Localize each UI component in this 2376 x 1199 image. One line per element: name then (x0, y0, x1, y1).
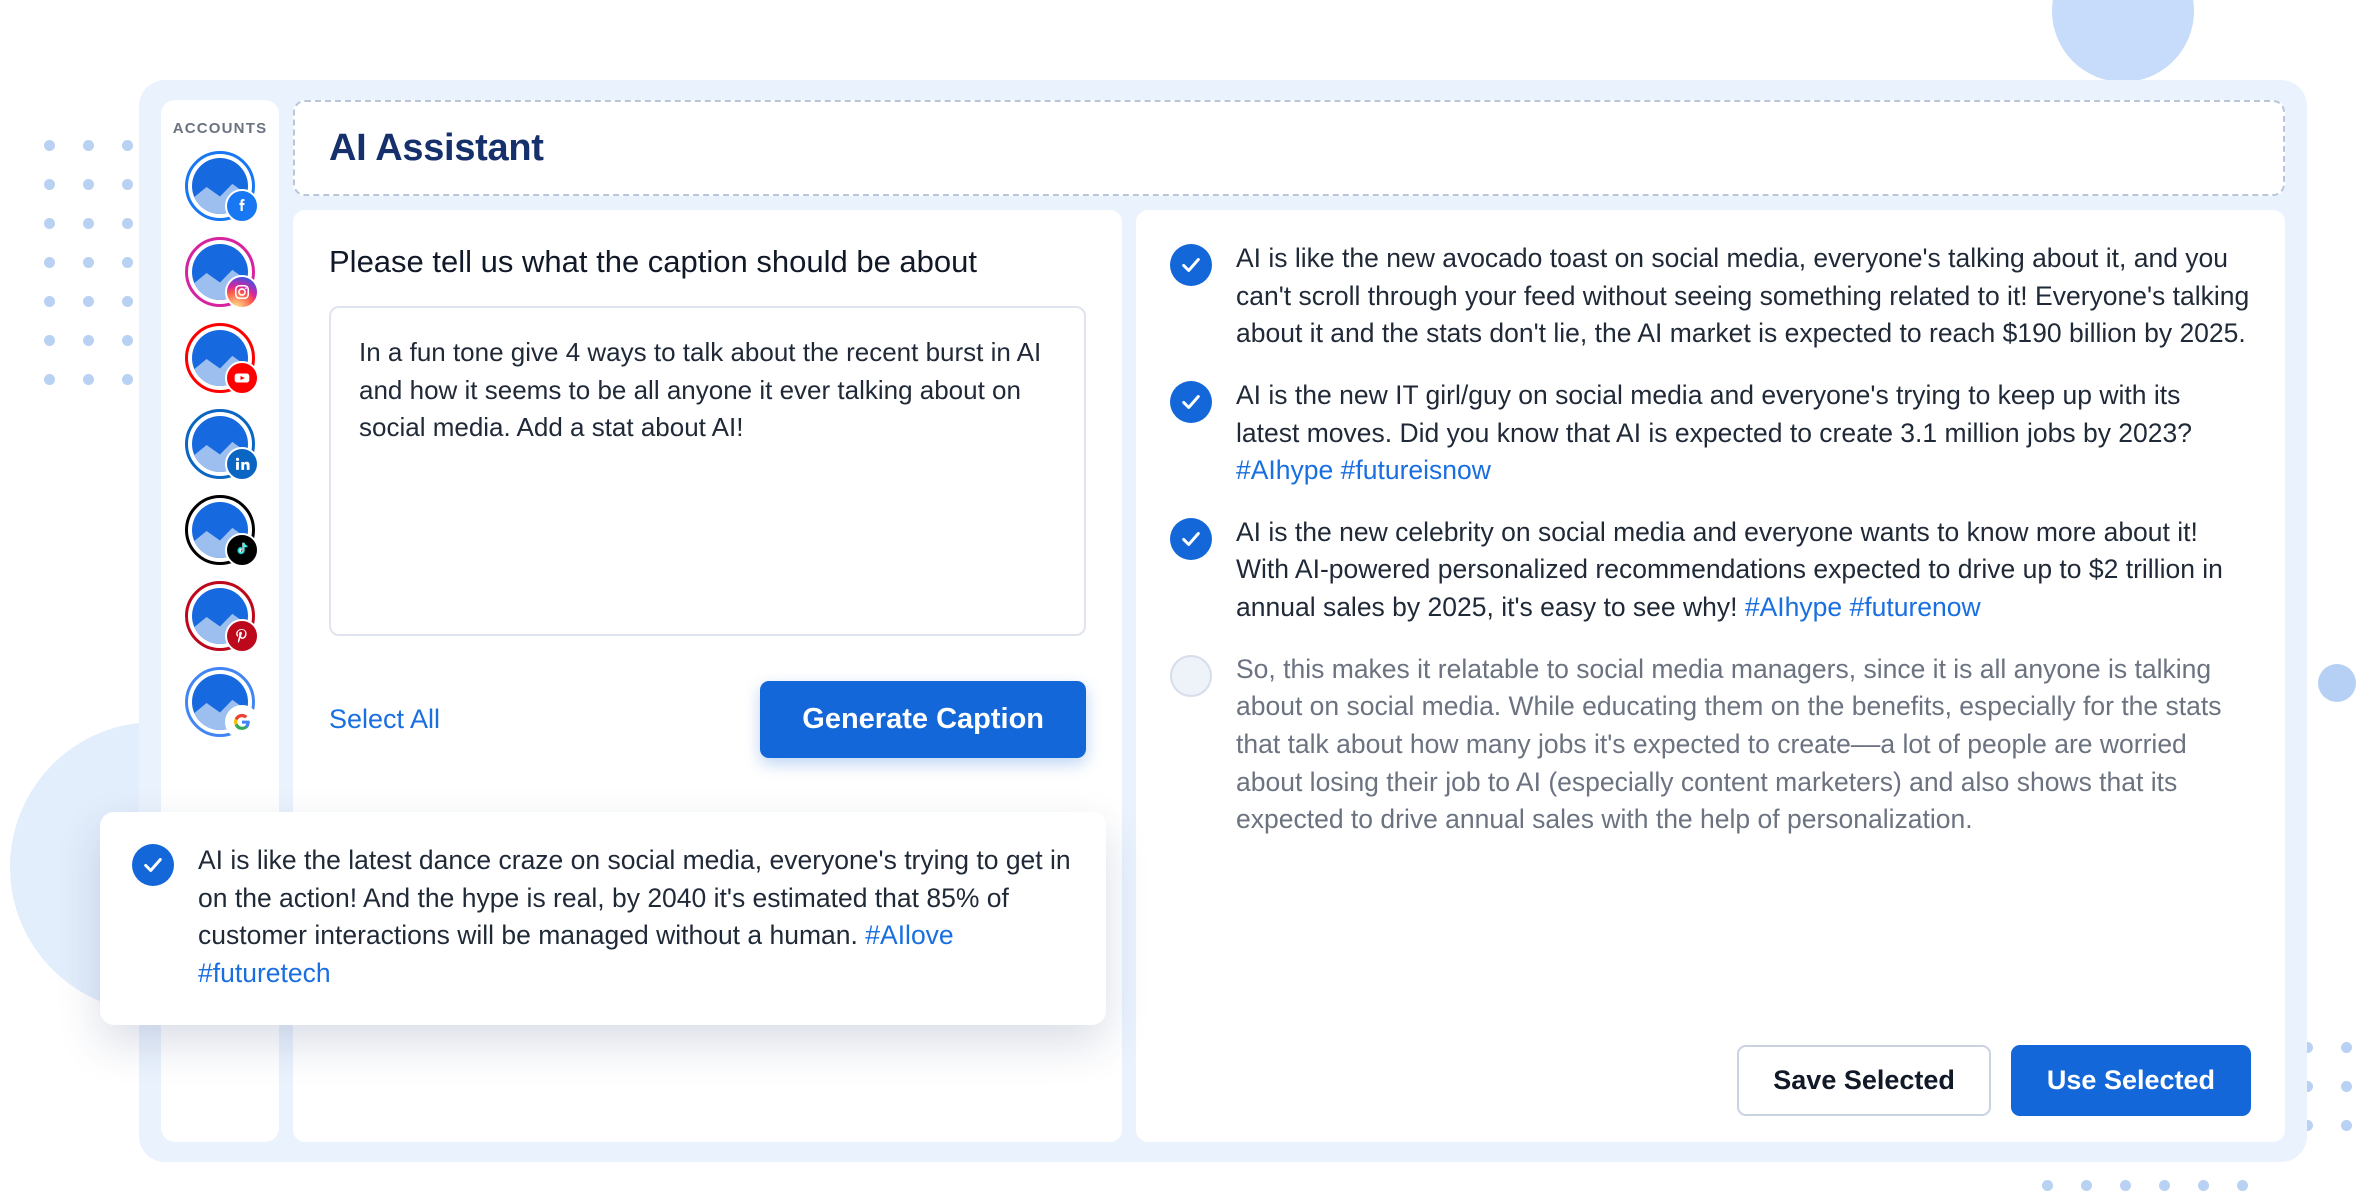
decorative-dot (122, 140, 133, 151)
account-item-linkedin[interactable] (185, 409, 255, 479)
suggestion-text: AI is the new IT girl/guy on social medi… (1236, 377, 2251, 490)
decorative-dot (44, 179, 55, 190)
accounts-sidebar-title: ACCOUNTS (161, 120, 279, 137)
generate-caption-button[interactable]: Generate Caption (760, 681, 1086, 758)
decorative-dot (44, 296, 55, 307)
suggestion-checkbox[interactable] (132, 844, 174, 886)
suggestion-checkbox-unchecked[interactable] (1170, 655, 1212, 697)
suggestion-text: So, this makes it relatable to social me… (1236, 651, 2251, 839)
decorative-dot-grid-right (2302, 1042, 2352, 1131)
decorative-dot (83, 179, 94, 190)
decorative-dot (83, 374, 94, 385)
decorative-dot (2081, 1180, 2092, 1191)
decorative-dot (122, 179, 133, 190)
suggestion-checkbox-checked[interactable] (1170, 381, 1212, 423)
decorative-circle-top (2052, 0, 2194, 82)
prompt-heading: Please tell us what the caption should b… (329, 244, 1086, 280)
account-item-youtube[interactable] (185, 323, 255, 393)
suggestion-text: AI is the new celebrity on social media … (1236, 514, 2251, 627)
account-item-facebook[interactable] (185, 151, 255, 221)
decorative-dot (122, 218, 133, 229)
youtube-icon (225, 361, 259, 395)
decorative-dot (122, 335, 133, 346)
decorative-dot (2237, 1180, 2248, 1191)
facebook-icon (225, 189, 259, 223)
suggestion-text: AI is like the new avocado toast on soci… (1236, 240, 2251, 353)
account-item-pinterest[interactable] (185, 581, 255, 651)
suggestion-item[interactable]: AI is the new IT girl/guy on social medi… (1170, 377, 2251, 490)
save-selected-button[interactable]: Save Selected (1737, 1045, 1991, 1116)
decorative-dot (83, 140, 94, 151)
decorative-dot (83, 335, 94, 346)
instagram-icon (225, 275, 259, 309)
decorative-dot (83, 257, 94, 268)
decorative-dot (2042, 1180, 2053, 1191)
decorative-dot-grid-bottom (2042, 1180, 2248, 1191)
suggestions-list: AI is like the new avocado toast on soci… (1170, 240, 2251, 1021)
linkedin-icon (225, 447, 259, 481)
hashtag-link[interactable]: #futurenow (1850, 592, 1981, 622)
google-icon (225, 705, 259, 739)
hashtag-link[interactable]: #futuretech (198, 958, 331, 988)
decorative-dot (83, 296, 94, 307)
prompt-input[interactable] (329, 306, 1086, 636)
page-title: AI Assistant (329, 127, 544, 170)
decorative-dot (122, 374, 133, 385)
decorative-dot (2120, 1180, 2131, 1191)
decorative-dot (2198, 1180, 2209, 1191)
decorative-dot (2341, 1120, 2352, 1131)
account-item-instagram[interactable] (185, 237, 255, 307)
suggestions-actions: Save Selected Use Selected (1170, 1045, 2251, 1116)
hashtag-link[interactable]: #AIhype (1236, 455, 1333, 485)
suggestion-checkbox-checked[interactable] (1170, 518, 1212, 560)
suggestion-text: AI is like the latest dance craze on soc… (198, 842, 1072, 993)
use-selected-button[interactable]: Use Selected (2011, 1045, 2251, 1116)
suggestions-panel: AI is like the new avocado toast on soci… (1136, 210, 2285, 1142)
decorative-dot (44, 257, 55, 268)
decorative-dot (122, 257, 133, 268)
decorative-dot (122, 296, 133, 307)
decorative-dot-right (2318, 664, 2356, 702)
decorative-dot (44, 374, 55, 385)
suggestion-item[interactable]: So, this makes it relatable to social me… (1170, 651, 2251, 839)
account-item-tiktok[interactable] (185, 495, 255, 565)
accounts-list (161, 151, 279, 737)
hashtag-link[interactable]: #AIhype (1745, 592, 1842, 622)
hashtag-link[interactable]: #futureisnow (1341, 455, 1491, 485)
account-item-google[interactable] (185, 667, 255, 737)
pinterest-icon (225, 619, 259, 653)
tiktok-icon (225, 533, 259, 567)
select-all-button[interactable]: Select All (329, 704, 440, 735)
decorative-dot (83, 218, 94, 229)
suggestion-item[interactable]: AI is the new celebrity on social media … (1170, 514, 2251, 627)
decorative-dot (44, 218, 55, 229)
floating-suggestion-card: AI is like the latest dance craze on soc… (100, 812, 1106, 1025)
hashtag-link[interactable]: #AIlove (865, 920, 953, 950)
suggestion-checkbox-checked[interactable] (1170, 244, 1212, 286)
decorative-dot (44, 140, 55, 151)
suggestion-item[interactable]: AI is like the new avocado toast on soci… (1170, 240, 2251, 353)
decorative-dot (2341, 1081, 2352, 1092)
assistant-header: AI Assistant (293, 100, 2285, 196)
decorative-dot (44, 335, 55, 346)
decorative-dot (2341, 1042, 2352, 1053)
prompt-actions: Select All Generate Caption (329, 681, 1086, 758)
decorative-dot (2159, 1180, 2170, 1191)
